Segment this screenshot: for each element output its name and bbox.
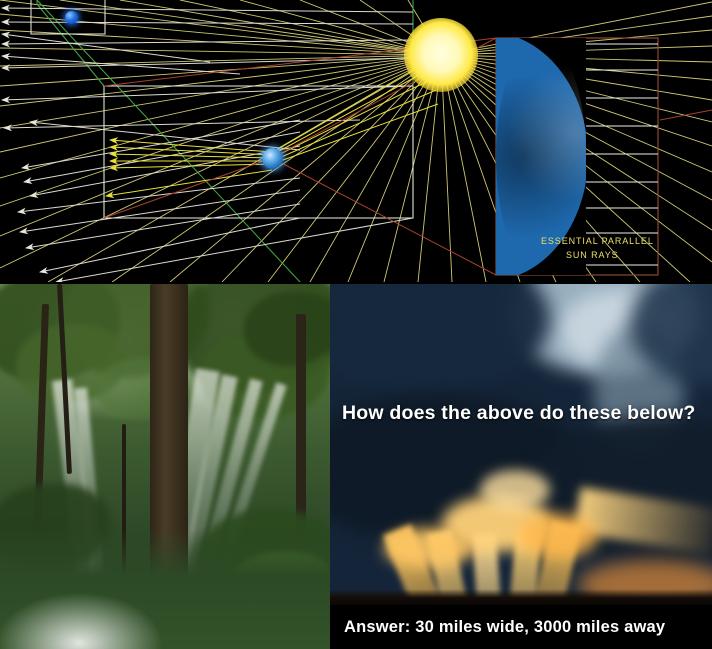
forest-crepuscular-rays-photo [0,284,330,649]
cloud-sunbeams-photo: How does the above do these below? Answe… [330,284,712,649]
sun-icon [404,18,478,92]
image-canvas: ESSENTIAL PARALLEL SUN RAYS [0,0,712,649]
label-essential-parallel: ESSENTIAL PARALLEL [541,236,654,246]
observer-point-icon [65,11,78,24]
sun-parallel-rays-diagram: ESSENTIAL PARALLEL SUN RAYS [0,0,712,282]
earth-small-icon [262,148,283,169]
question-text: How does the above do these below? [342,402,696,425]
label-sun-rays: SUN RAYS [566,250,619,260]
answer-text: Answer: 30 miles wide, 3000 miles away [344,618,665,637]
